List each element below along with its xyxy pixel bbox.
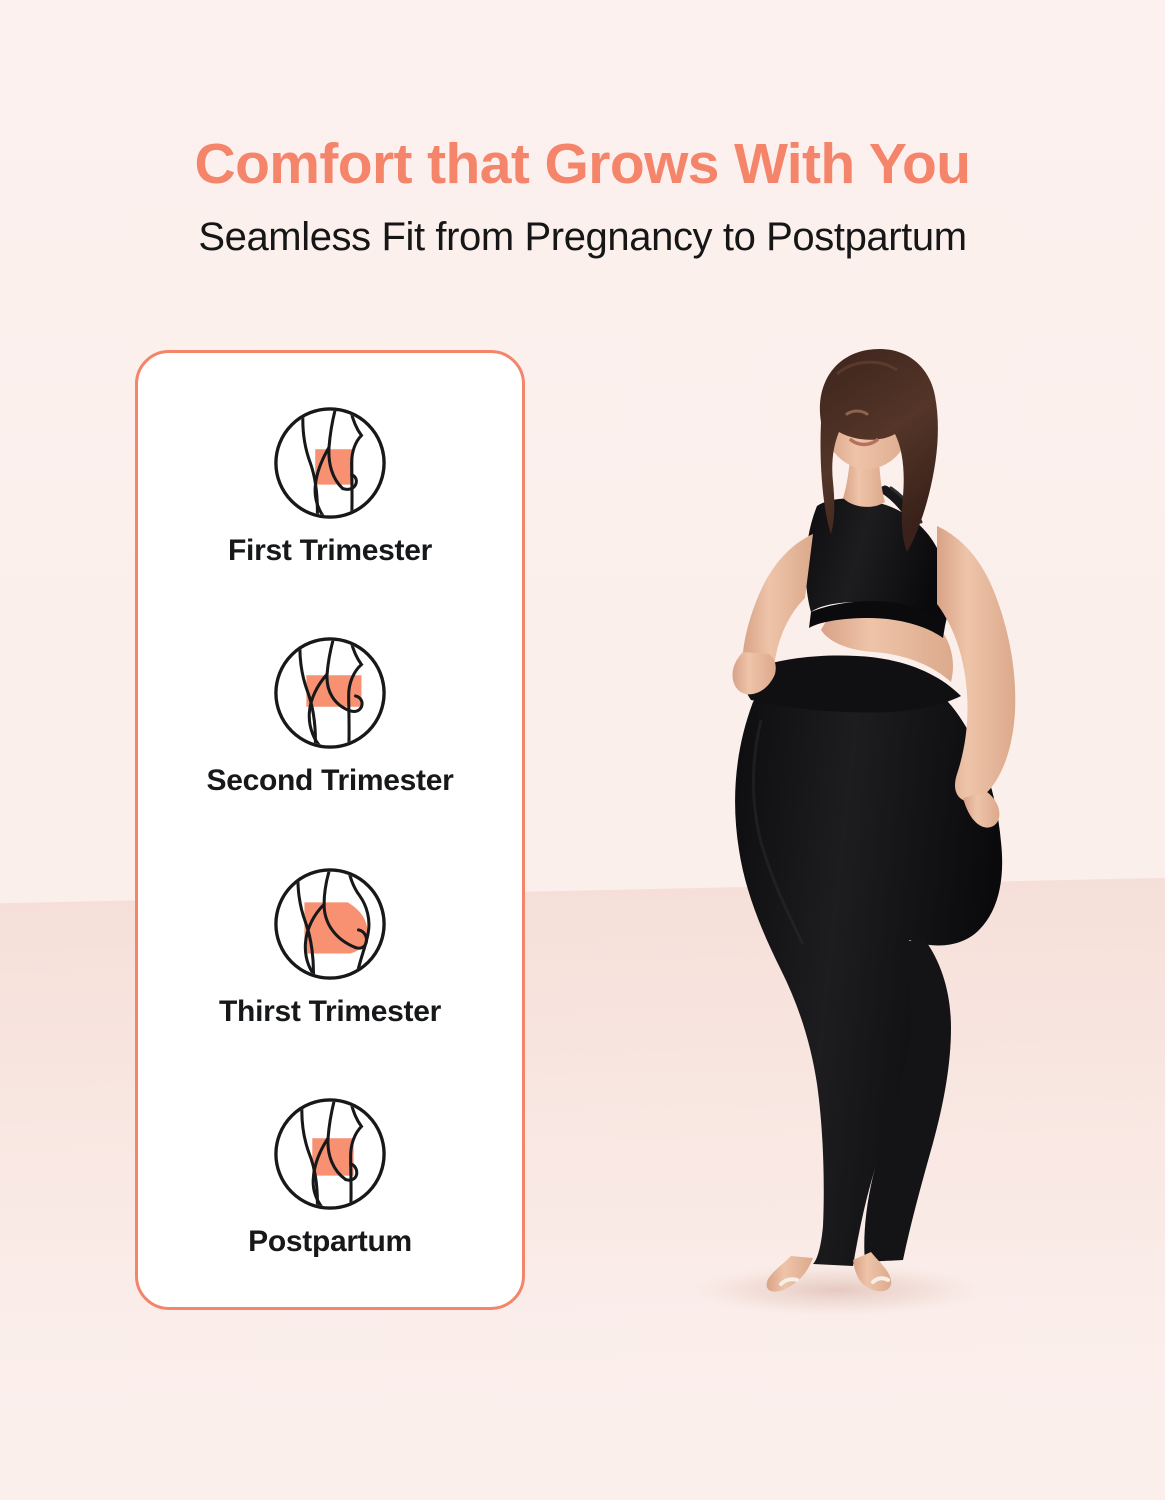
belly-silhouette-third-trimester-icon	[271, 865, 389, 983]
model-illustration	[585, 330, 1165, 1360]
belly-silhouette-postpartum-icon	[271, 1095, 389, 1213]
belly-silhouette-first-trimester-icon	[271, 404, 389, 522]
stage-label: Second Trimester	[207, 763, 454, 799]
stage-label: Postpartum	[248, 1224, 412, 1260]
belly-silhouette-second-trimester-icon	[271, 634, 389, 752]
infographic-canvas: Comfort that Grows With You Seamless Fit…	[0, 0, 1165, 1500]
model-photo	[585, 330, 1165, 1360]
stage-label: Thirst Trimester	[219, 994, 441, 1030]
page-headline: Comfort that Grows With You	[0, 131, 1165, 197]
maternity-leggings	[735, 662, 1002, 1266]
stage-item-third-trimester: Thirst Trimester	[138, 865, 522, 1030]
floor-shadow	[687, 1264, 987, 1316]
page-subheadline: Seamless Fit from Pregnancy to Postpartu…	[0, 211, 1165, 263]
stage-list-card: First Trimester Second Trimest	[135, 350, 525, 1310]
stage-item-first-trimester: First Trimester	[138, 404, 522, 569]
stage-item-postpartum: Postpartum	[138, 1095, 522, 1260]
stage-item-second-trimester: Second Trimester	[138, 634, 522, 799]
stage-label: First Trimester	[228, 533, 432, 569]
